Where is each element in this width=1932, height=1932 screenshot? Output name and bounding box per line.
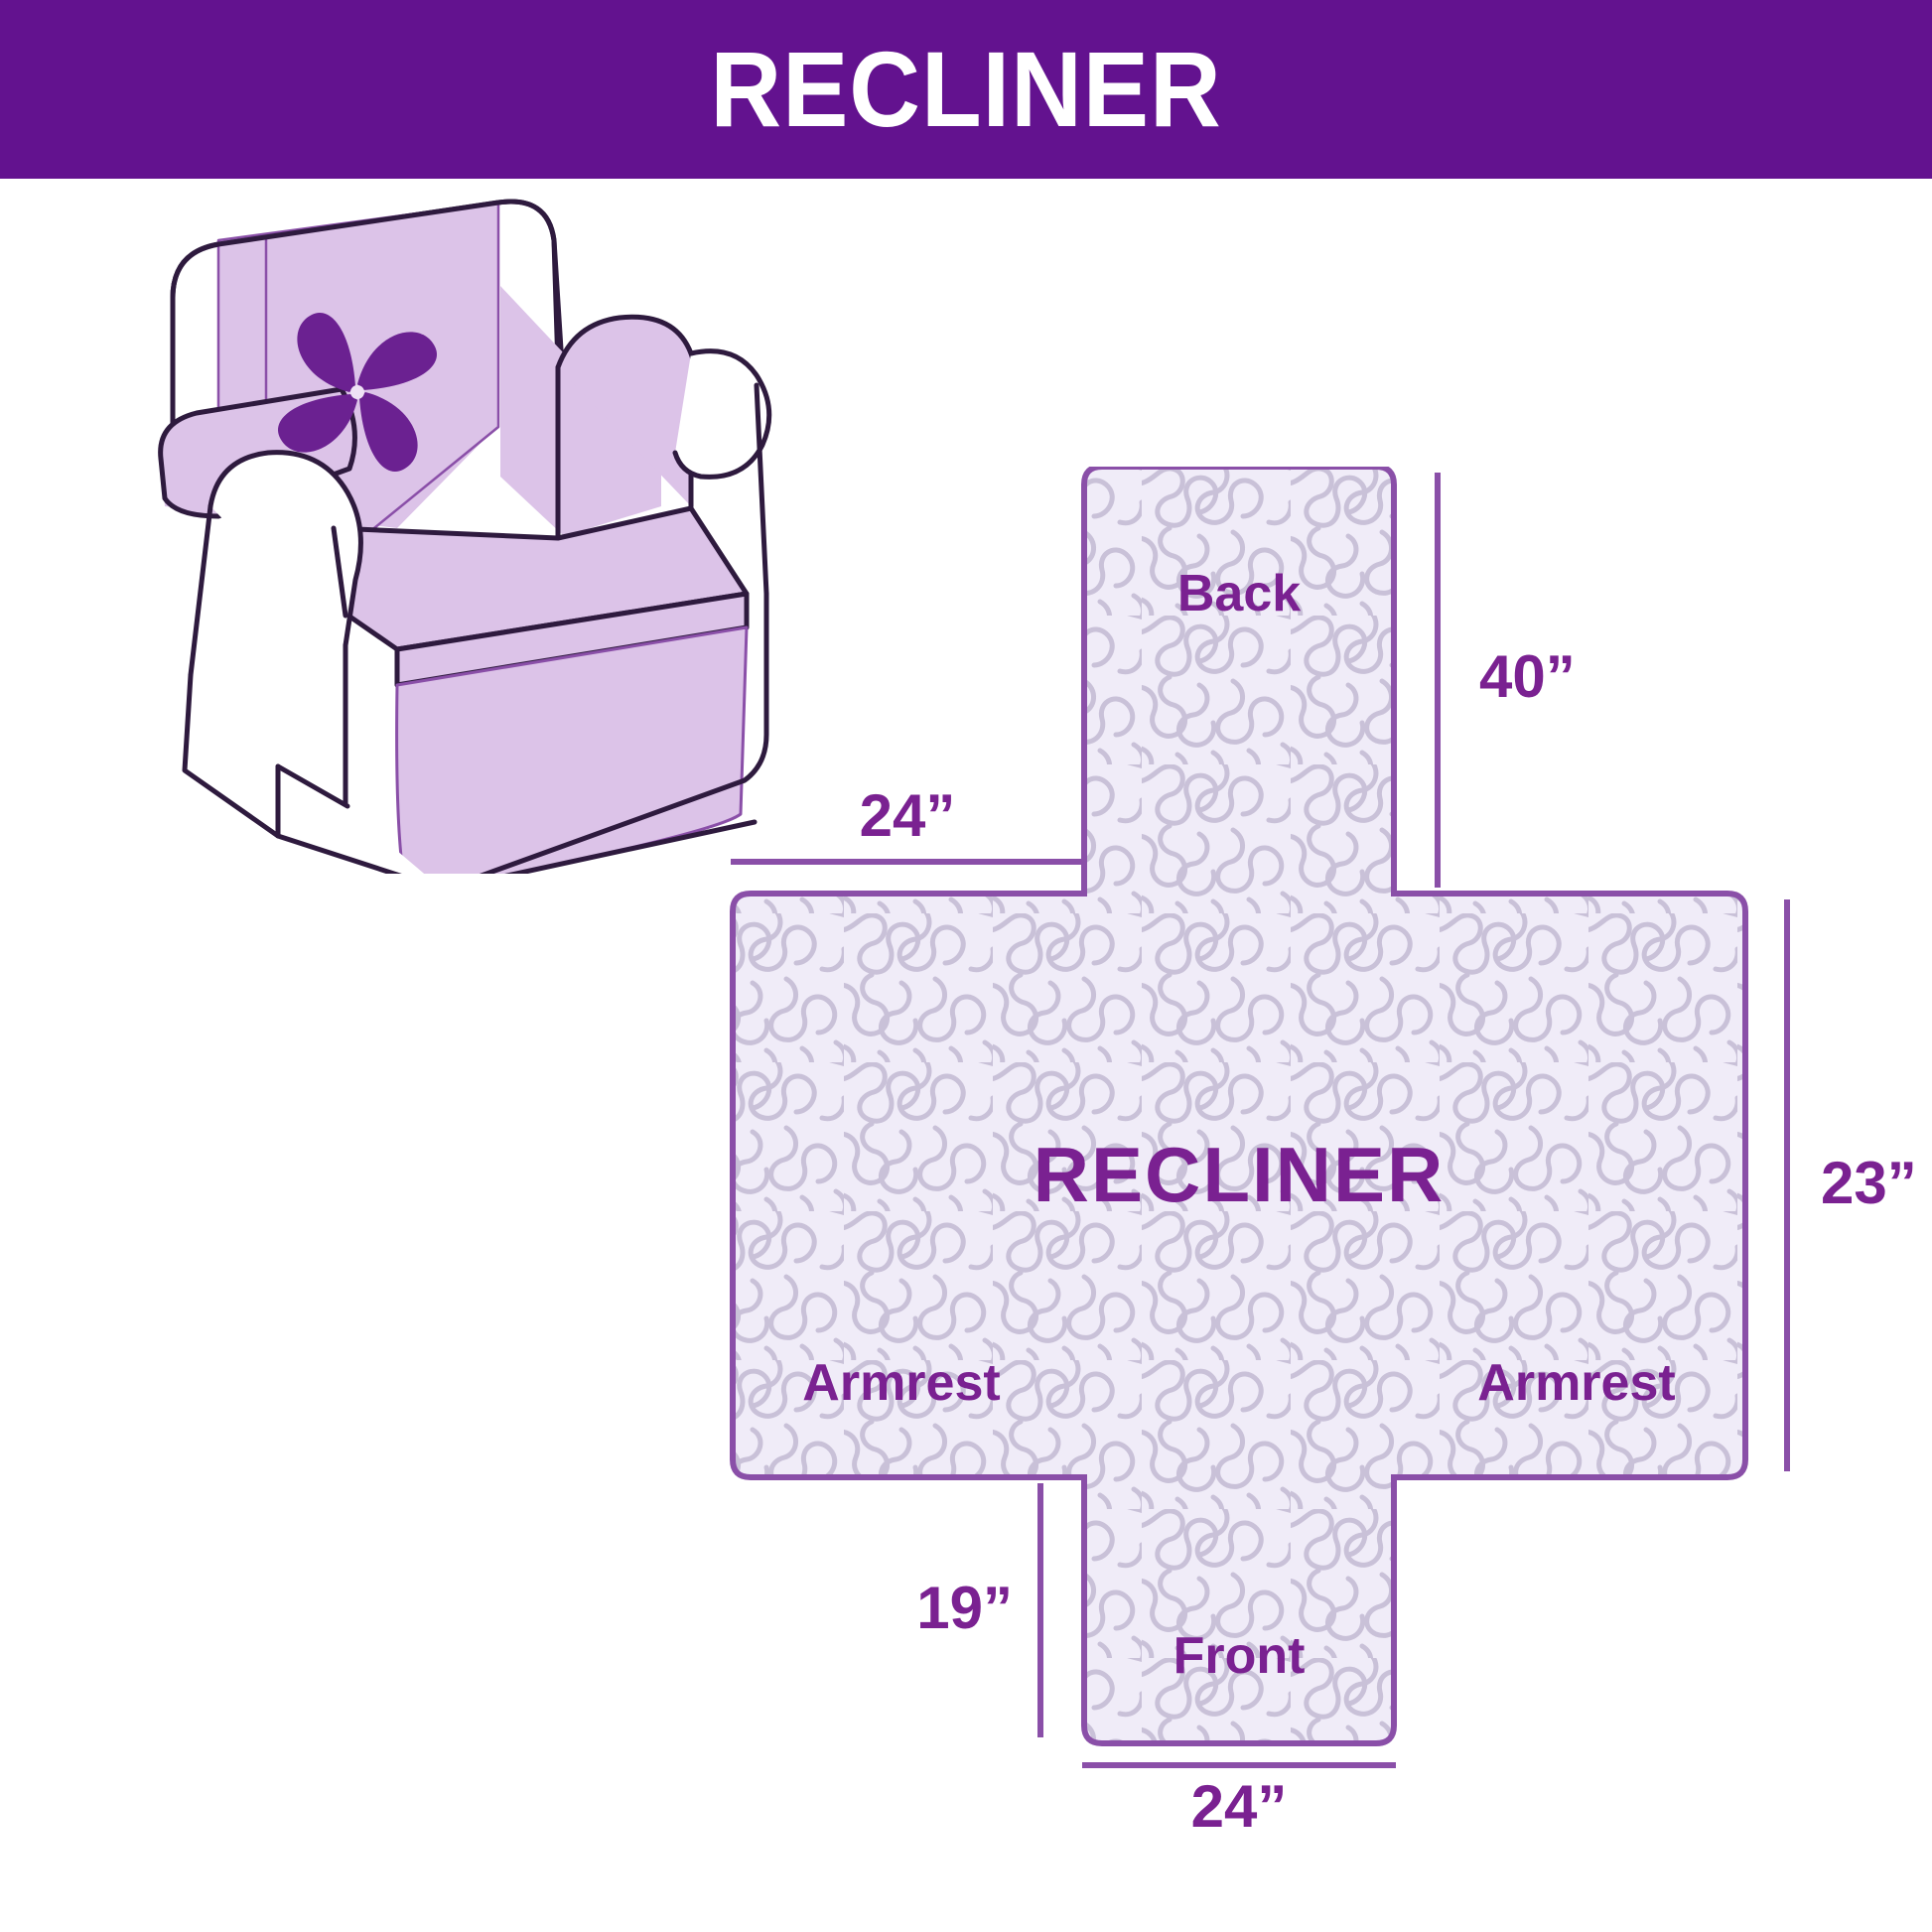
cover-cross-outline: [733, 467, 1745, 1743]
panel-label-center: RECLINER: [1034, 1131, 1446, 1218]
panel-label-armrest-right: Armrest: [1477, 1354, 1675, 1412]
header-banner: RECLINER: [0, 0, 1932, 179]
dimension-back-height: 40”: [1438, 473, 1576, 888]
dimension-front-width: 24”: [1082, 1765, 1396, 1840]
dimension-armrest-height: 23”: [1787, 899, 1917, 1471]
panel-label-front: Front: [1173, 1627, 1306, 1685]
dimension-label-24-bottom: 24”: [1191, 1773, 1288, 1840]
dimension-label-23: 23”: [1821, 1150, 1917, 1216]
panel-label-back: Back: [1177, 565, 1301, 622]
panel-label-armrest-left: Armrest: [802, 1354, 1000, 1412]
dimension-back-width: 24”: [731, 782, 1082, 862]
dimension-label-40: 40”: [1479, 643, 1576, 710]
cover-flat-lay-diagram: Back RECLINER Armrest Armrest Front 40” …: [695, 467, 1932, 1857]
cover-shape: [733, 467, 1745, 1743]
dimension-label-19: 19”: [916, 1575, 1013, 1641]
page-title: RECLINER: [710, 36, 1221, 143]
dimension-label-24-top: 24”: [860, 782, 956, 849]
product-dimension-infographic: RECLINER: [0, 0, 1932, 1932]
dimension-front-height: 19”: [916, 1483, 1040, 1737]
